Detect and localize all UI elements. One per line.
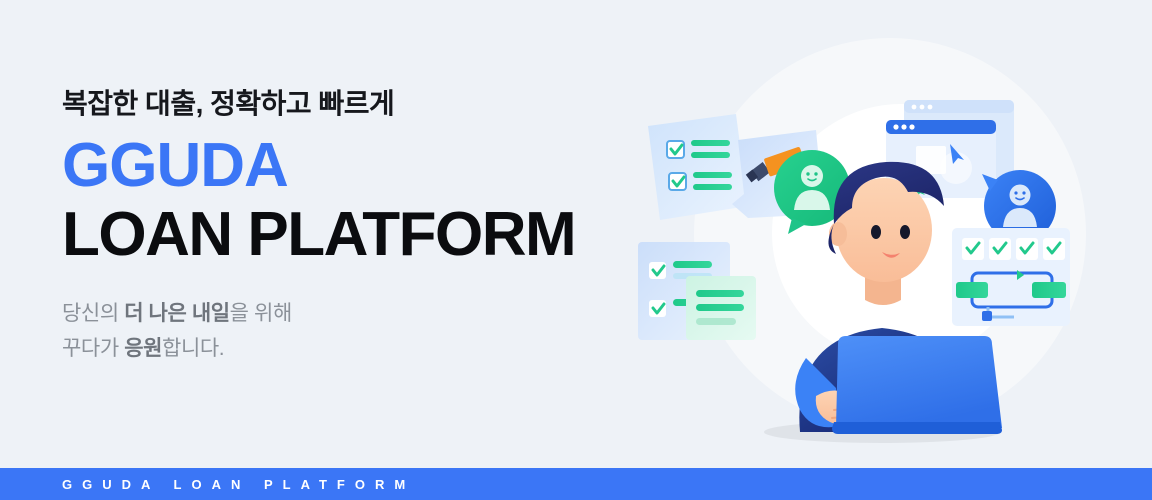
subcopy-line2-bold: 응원 — [124, 337, 162, 360]
mint-note-card — [686, 276, 756, 340]
subcopy-line-2: 꾸다가 응원합니다. — [62, 332, 622, 367]
hero-copy: 복잡한 대출, 정확하고 빠르게 GGUDA LOAN PLATFORM 당신의… — [62, 86, 622, 366]
hero-illustration — [620, 28, 1090, 460]
subcopy-line-1: 당신의 더 나은 내일을 위해 — [62, 297, 622, 332]
product-name: LOAN PLATFORM — [62, 202, 622, 267]
subcopy-line1-prefix: 당신의 — [62, 302, 124, 325]
hero-banner: 복잡한 대출, 정확하고 빠르게 GGUDA LOAN PLATFORM 당신의… — [0, 0, 1152, 500]
subcopy-line1-bold: 더 나은 내일 — [124, 302, 229, 325]
subcopy-line2-suffix: 합니다. — [162, 337, 224, 360]
subcopy-line1-suffix: 을 위해 — [230, 302, 292, 325]
footer-strip: GGUDA LOAN PLATFORM — [0, 468, 1152, 500]
workflow-card-right — [952, 228, 1070, 326]
hero-subcopy: 당신의 더 나은 내일을 위해 꾸다가 응원합니다. — [62, 297, 622, 366]
footer-brand-text: GGUDA LOAN PLATFORM — [62, 477, 415, 492]
hero-tagline: 복잡한 대출, 정확하고 빠르게 — [62, 86, 622, 121]
subcopy-line2-prefix: 꾸다가 — [62, 337, 124, 360]
laptop — [832, 336, 1002, 434]
brand-name: GGUDA — [62, 133, 622, 198]
